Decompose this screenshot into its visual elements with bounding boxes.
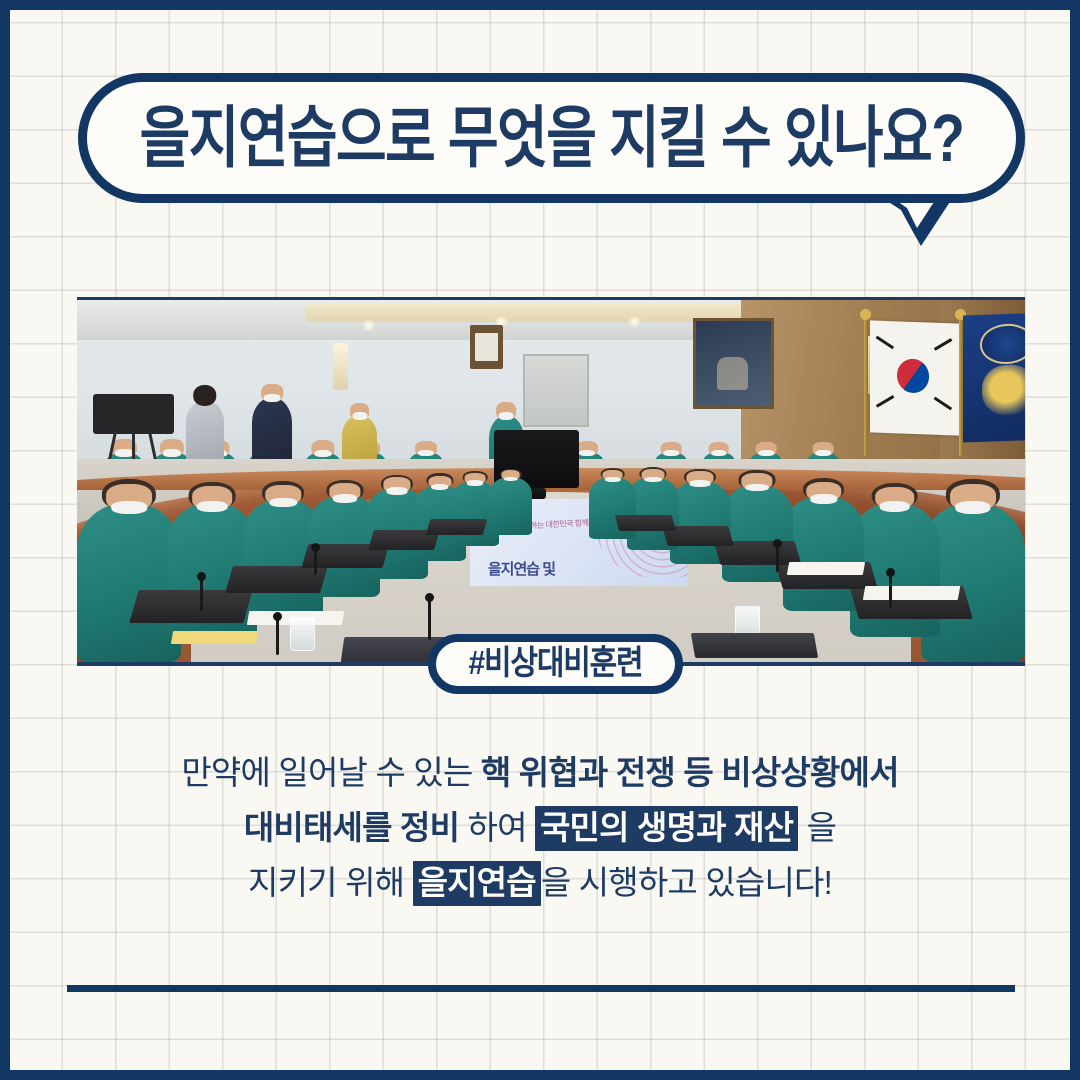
- card-canvas: 을지연습으로 무엇을 지킬 수 있나요?: [10, 10, 1070, 1070]
- photo-notepad: [171, 631, 259, 644]
- photo-microphone: [200, 579, 203, 612]
- body-line-2: 대비태세를 정비 하여 국민의 생명과 재산 을: [10, 800, 1070, 855]
- body-line-3: 지키기 위해 을지연습을 시행하고 있습니다!: [10, 855, 1070, 910]
- photo-microphone: [889, 575, 892, 608]
- photo-wall-clock: [470, 325, 502, 368]
- trigram: [933, 396, 951, 409]
- photo-laptop: [225, 566, 328, 593]
- photo-laptop: [425, 519, 487, 535]
- photo-microphone: [314, 550, 317, 575]
- body-text-block: 만약에 일어날 수 있는 핵 위협과 전쟁 등 비상상황에서 대비태세를 정비 …: [10, 745, 1070, 910]
- hashtag-badge: #비상대비훈련: [428, 634, 683, 694]
- body-highlight-2: 을지연습: [413, 861, 541, 906]
- bottom-divider: [67, 985, 1015, 992]
- body-segment: 하여: [459, 809, 535, 846]
- photo-government-flag: [963, 313, 1025, 443]
- trigram: [876, 336, 894, 349]
- page-title: 을지연습으로 무엇을 지킬 수 있나요?: [140, 104, 964, 171]
- photo-water-glass: [290, 617, 315, 652]
- government-seal-icon: [980, 324, 1025, 365]
- body-line-1: 만약에 일어날 수 있는 핵 위협과 전쟁 등 비상상황에서: [10, 745, 1070, 800]
- title-speech-bubble: 을지연습으로 무엇을 지킬 수 있나요?: [78, 73, 1025, 203]
- phoenix-emblem-icon: [982, 364, 1025, 417]
- taeguk-symbol-icon: [897, 358, 929, 393]
- photo-laptop: [129, 590, 252, 623]
- trigram: [876, 394, 894, 406]
- photo-korean-flag: [870, 320, 960, 435]
- photo-microphone: [776, 546, 779, 571]
- photo-official-front-left: [77, 503, 181, 662]
- photo-downlight: [361, 320, 376, 331]
- photo-official: [489, 477, 532, 535]
- body-segment: 을: [798, 809, 836, 846]
- photo-microphone: [428, 600, 431, 640]
- meeting-photo: 다시 도약하는 대한민국 함께 잘사는 국민의 나라 을지연습 및: [77, 297, 1025, 666]
- photo-flag-pole: [864, 311, 868, 456]
- body-segment: 지키기 위해: [248, 864, 413, 901]
- photo-laptop: [691, 633, 819, 658]
- photo-cabinet: [523, 354, 589, 426]
- photo-wall-sconce: [333, 343, 348, 390]
- trigram: [933, 338, 951, 350]
- photo-microphone: [276, 619, 279, 655]
- photo-scene: 다시 도약하는 대한민국 함께 잘사는 국민의 나라 을지연습 및: [77, 300, 1025, 662]
- video-camera-icon: [93, 394, 174, 433]
- hashtag-label: #비상대비훈련: [469, 647, 643, 681]
- body-highlight-1: 국민의 생명과 재산: [535, 806, 798, 851]
- photo-wall-portrait: [693, 318, 774, 409]
- screen-title: 을지연습 및: [488, 558, 555, 579]
- body-segment: 만약에 일어날 수 있는: [181, 754, 481, 791]
- photo-laptop: [615, 515, 677, 531]
- photo-document: [787, 562, 865, 575]
- photo-flag-finial-icon: [860, 309, 871, 320]
- photo-document: [863, 586, 960, 600]
- body-segment: 을 시행하고 있습니다!: [541, 864, 832, 901]
- body-segment: 핵 위협과 전쟁 등 비상상황에서: [481, 754, 899, 791]
- infographic-card: 을지연습으로 무엇을 지킬 수 있나요?: [0, 0, 1080, 1080]
- body-segment: 대비태세를 정비: [244, 809, 459, 846]
